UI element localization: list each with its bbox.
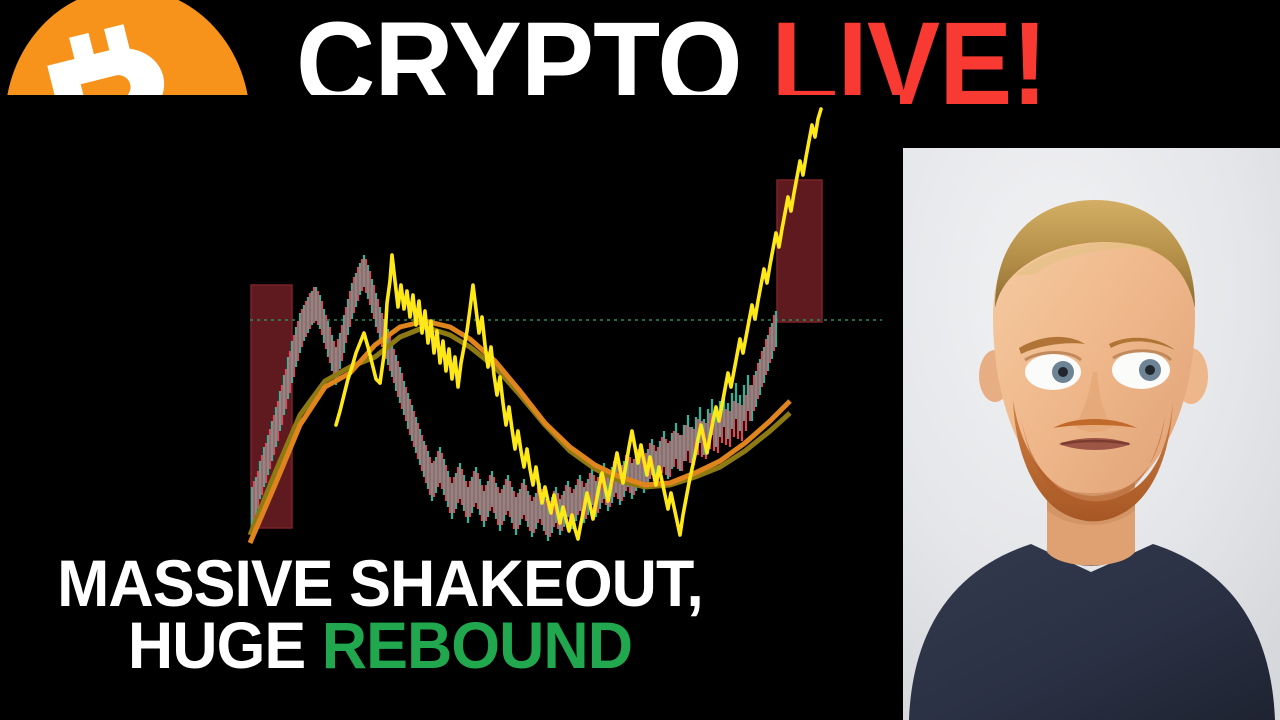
price-chart [0,95,900,545]
subtitle-line-2: HUGE REBOUND [19,614,741,676]
subtitle-line-1: MASSIVE SHAKEOUT, [19,552,741,614]
subtitle-line-2-prefix: HUGE [128,608,322,682]
youtube-thumbnail: CRYPTO LIVE! [0,0,1280,720]
subtitle: MASSIVE SHAKEOUT, HUGE REBOUND [0,552,760,676]
subtitle-line-2-accent: REBOUND [322,608,632,682]
presenter-webcam [903,148,1280,720]
